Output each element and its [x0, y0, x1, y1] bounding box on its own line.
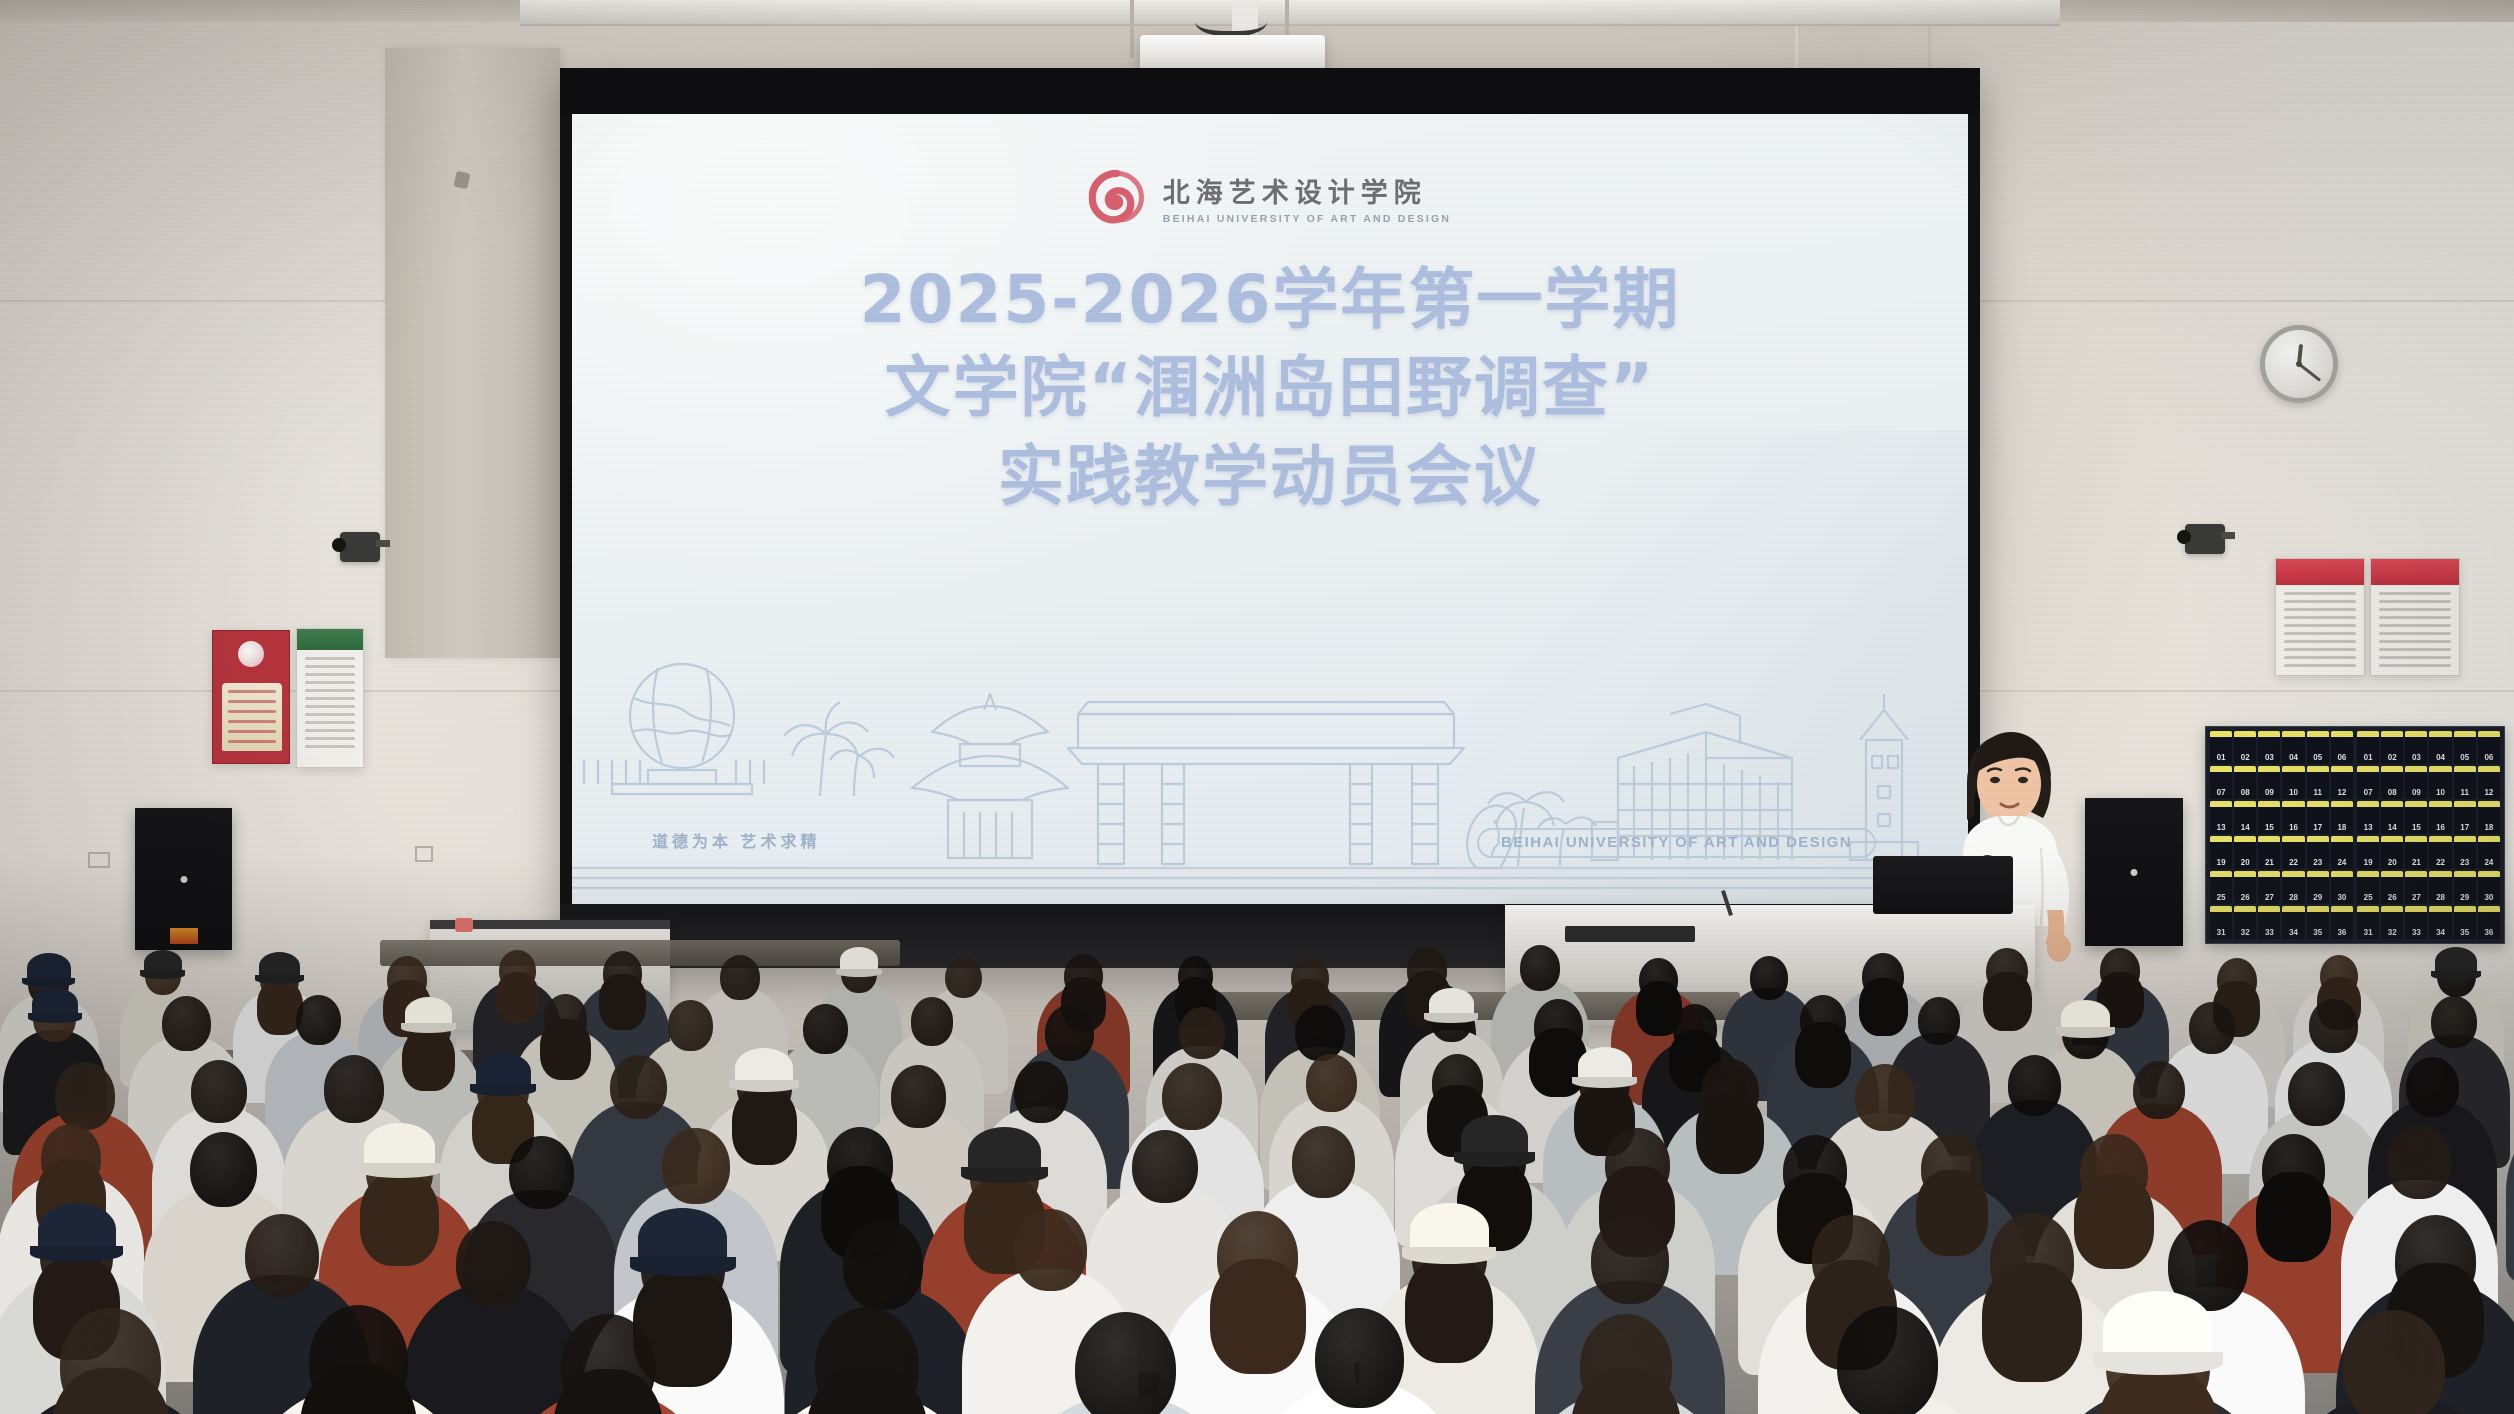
audience-member-head: [1750, 956, 1789, 1000]
audience-member-head: [1075, 1312, 1176, 1414]
audience-member-cap-brim: [630, 1257, 736, 1276]
wall-clock: [2260, 325, 2338, 403]
ceiling-track: [520, 0, 2060, 26]
phone-pouch-cell[interactable]: 07: [2210, 766, 2232, 799]
poster-text-lines: [2276, 585, 2364, 674]
phone-pouch-cell[interactable]: 07: [2357, 766, 2379, 799]
phone-pouch-cell[interactable]: 09: [2258, 766, 2280, 799]
core-values-poster: [212, 630, 290, 764]
audience-member: [1514, 1314, 1738, 1414]
audience-member-cap-brim: [401, 1023, 457, 1033]
audience-member: [1003, 1312, 1247, 1414]
projection-screen: 北海艺术设计学院 BEIHAI UNIVERSITY OF ART AND DE…: [560, 68, 1980, 968]
seated-students: [0, 854, 2514, 1414]
audience-member-head: [1162, 1063, 1222, 1130]
audience-member: [741, 1307, 992, 1414]
audience-member-head: [1591, 1216, 1669, 1304]
audience-member-head: [2133, 1061, 2185, 1119]
audience-member-head: [610, 1055, 667, 1119]
lecture-hall-photo: EPSON 北海艺术设计学院 BEIHAI UNIVERSITY OF ART …: [0, 0, 2514, 1414]
audience-member-head: [2343, 1310, 2445, 1414]
camera-mount: [2221, 532, 2235, 539]
audience-member-cap-brim: [358, 1163, 443, 1178]
audience-member-head: [296, 995, 341, 1046]
audience-member-head: [1179, 1007, 1226, 1060]
audience-member-head: [2288, 1062, 2344, 1125]
phone-pouch-cell[interactable]: 08: [2234, 766, 2256, 799]
pagoda-icon: [912, 694, 1068, 858]
slide-title-block: 2025-2026学年第一学期 文学院“涠洲岛田野调查” 实践教学动员会议: [572, 256, 1968, 521]
audience-member-head: [456, 1221, 531, 1306]
slide-title-line-3: 实践教学动员会议: [572, 433, 1968, 521]
phone-pouch-cell[interactable]: 13: [2357, 801, 2379, 834]
audience-member-head: [662, 1128, 730, 1204]
poster-plaque: [222, 683, 282, 751]
phone-pouch-cell[interactable]: 11: [2454, 766, 2476, 799]
phone-pouch-cell[interactable]: 06: [2331, 731, 2353, 764]
phone-pouch-cell[interactable]: 12: [2331, 766, 2353, 799]
phone-pouch-cell[interactable]: 03: [2405, 731, 2427, 764]
audience-member: [2506, 1306, 2514, 1414]
audience-member-head: [720, 955, 760, 1000]
audience-member-cap-brim: [1402, 1247, 1496, 1264]
audience-member-cap-brim: [2056, 1027, 2115, 1038]
phone-pouch-cell[interactable]: 16: [2429, 801, 2451, 834]
audience-member-head: [1014, 1061, 1069, 1123]
palm-tree-icon: [784, 702, 894, 796]
phone-pouch-cell[interactable]: 18: [2478, 801, 2500, 834]
slide-english-ribbon-text: BEIHAI UNIVERSITY OF ART AND DESIGN: [1501, 834, 1852, 851]
camera-lens-icon: [332, 538, 346, 552]
logo-chinese-name: 北海艺术设计学院: [1163, 171, 1451, 210]
audience-member-head: [190, 1132, 257, 1208]
phone-pouch-cell[interactable]: 05: [2454, 731, 2476, 764]
phone-pouch-cell[interactable]: 15: [2258, 801, 2280, 834]
audience-member-head: [1520, 945, 1561, 991]
poster-header-band: [297, 629, 363, 650]
slide-title-line-1: 2025-2026学年第一学期: [572, 256, 1968, 344]
audience-member-cap-brim: [1424, 1013, 1478, 1023]
presentation-slide: 北海艺术设计学院 BEIHAI UNIVERSITY OF ART AND DE…: [572, 114, 1968, 904]
phone-pouch-cell[interactable]: 04: [2429, 731, 2451, 764]
phone-pouch-cell[interactable]: 10: [2429, 766, 2451, 799]
audience-member: [1252, 1308, 1468, 1414]
audience-member-head: [911, 997, 954, 1045]
wall-pillar: [385, 48, 560, 658]
phone-pouch-cell[interactable]: 17: [2454, 801, 2476, 834]
audience-member: [0, 1308, 233, 1414]
audience-member-head: [2309, 999, 2357, 1053]
poster-header-band: [2371, 559, 2459, 585]
notice-poster: [296, 628, 364, 768]
regulation-poster-2: [2370, 558, 2460, 676]
clock-center-pin: [2296, 361, 2302, 367]
slide-motto: 道德为本 艺术求精: [652, 828, 820, 852]
audience-member-head: [1855, 1064, 1915, 1131]
audience-member: [495, 1314, 721, 1414]
phone-pouch-cell[interactable]: 12: [2478, 766, 2500, 799]
audience-member-cap-brim: [28, 1013, 82, 1023]
audience-member-cap-brim: [140, 970, 185, 978]
phone-pouch-cell[interactable]: 16: [2282, 801, 2304, 834]
audience-member-head: [1306, 1054, 1357, 1112]
phone-pouch-cell[interactable]: 14: [2234, 801, 2256, 834]
audience-member-head: [1918, 997, 1960, 1045]
audience-member-head: [843, 1219, 924, 1310]
globe-sculpture-icon: [630, 664, 734, 768]
audience-member-head: [324, 1055, 384, 1123]
audience-member-head: [945, 957, 982, 999]
campus-gate-icon: [1068, 702, 1464, 864]
audience-member-head: [2431, 996, 2477, 1048]
right-wall-camera: [2185, 524, 2225, 554]
audience-member: [1764, 1306, 2010, 1414]
camera-mount: [376, 540, 390, 547]
logo-text-block: 北海艺术设计学院 BEIHAI UNIVERSITY OF ART AND DE…: [1163, 171, 1451, 225]
phone-pouch-cell[interactable]: 13: [2210, 801, 2232, 834]
audience-member-cap-brim: [470, 1084, 536, 1096]
phone-pouch-cell[interactable]: 11: [2307, 766, 2329, 799]
audience-member-head: [245, 1214, 319, 1297]
audience-member: [2271, 1310, 2514, 1414]
audience-member-cap-brim: [2093, 1352, 2223, 1375]
phone-pouch-cell[interactable]: 15: [2405, 801, 2427, 834]
audience-member-cap-brim: [2431, 971, 2481, 980]
poster-text-lines: [297, 650, 363, 755]
audience-member-head: [803, 1004, 848, 1054]
audience-member: [238, 1305, 478, 1414]
audience-member-head: [2008, 1055, 2062, 1116]
phone-pouch-cell[interactable]: 04: [2282, 731, 2304, 764]
audience-member-head: [891, 1065, 946, 1127]
audience-member-head: [55, 1062, 115, 1130]
left-wall-camera: [340, 532, 380, 562]
audience-member: [2033, 1305, 2283, 1414]
phone-pouch-cell[interactable]: 01: [2357, 731, 2379, 764]
audience-member-cap-brim: [961, 1167, 1048, 1183]
audience-member-head: [1014, 1209, 1087, 1291]
rail-drop-rod: [1130, 0, 1134, 58]
slide-title-line-2: 文学院“涠洲岛田野调查”: [572, 344, 1968, 432]
university-logo: 北海艺术设计学院 BEIHAI UNIVERSITY OF ART AND DE…: [1089, 170, 1451, 226]
audience-member-cap-brim: [1454, 1152, 1534, 1166]
audience-member-head: [668, 1000, 713, 1051]
audience-member-head: [1045, 1005, 1094, 1061]
phone-pouch-cell[interactable]: 14: [2381, 801, 2403, 834]
regulation-poster-1: [2275, 558, 2365, 676]
phone-pouch-cell[interactable]: 08: [2381, 766, 2403, 799]
screen-top-bar: [560, 68, 1980, 114]
audience-member-head: [1132, 1130, 1197, 1204]
poster-text-lines: [2371, 585, 2459, 674]
audience-member-head: [509, 1136, 573, 1209]
projector-cable: [1195, 0, 1267, 36]
phone-pouch-cell[interactable]: 02: [2381, 731, 2403, 764]
poster-emblem-icon: [238, 641, 264, 667]
phone-pouch-cell[interactable]: 02: [2234, 731, 2256, 764]
phone-pouch-cell[interactable]: 06: [2478, 731, 2500, 764]
phone-pouch-cell[interactable]: 18: [2331, 801, 2353, 834]
phone-pouch-cell[interactable]: 01: [2210, 731, 2232, 764]
audience-member-head: [191, 1060, 247, 1123]
phone-pouch-cell[interactable]: 10: [2282, 766, 2304, 799]
beihai-spiral-logo-icon: [1089, 170, 1145, 226]
phone-pouch-cell[interactable]: 03: [2258, 731, 2280, 764]
clock-minute-hand: [2298, 363, 2321, 382]
audience-member-cap-brim: [255, 975, 304, 984]
phone-pouch-cell[interactable]: 09: [2405, 766, 2427, 799]
audience-member-head: [1292, 1126, 1355, 1198]
audience-member-head: [1837, 1306, 1939, 1414]
logo-english-name: BEIHAI UNIVERSITY OF ART AND DESIGN: [1163, 213, 1451, 225]
phone-pouch-cell[interactable]: 17: [2307, 801, 2329, 834]
phone-pouch-cell[interactable]: 05: [2307, 731, 2329, 764]
audience-member-head: [2189, 1002, 2235, 1054]
audience-member-cap-brim: [836, 969, 881, 977]
audience-member-torso: [2506, 1383, 2514, 1414]
camera-lens-icon: [2177, 530, 2191, 544]
audience-member-head: [2406, 1057, 2459, 1117]
audience-member-head: [1315, 1308, 1404, 1409]
poster-header-band: [2276, 559, 2364, 585]
audience-member-head: [2387, 1125, 2452, 1198]
audience-member-head: [162, 996, 211, 1051]
